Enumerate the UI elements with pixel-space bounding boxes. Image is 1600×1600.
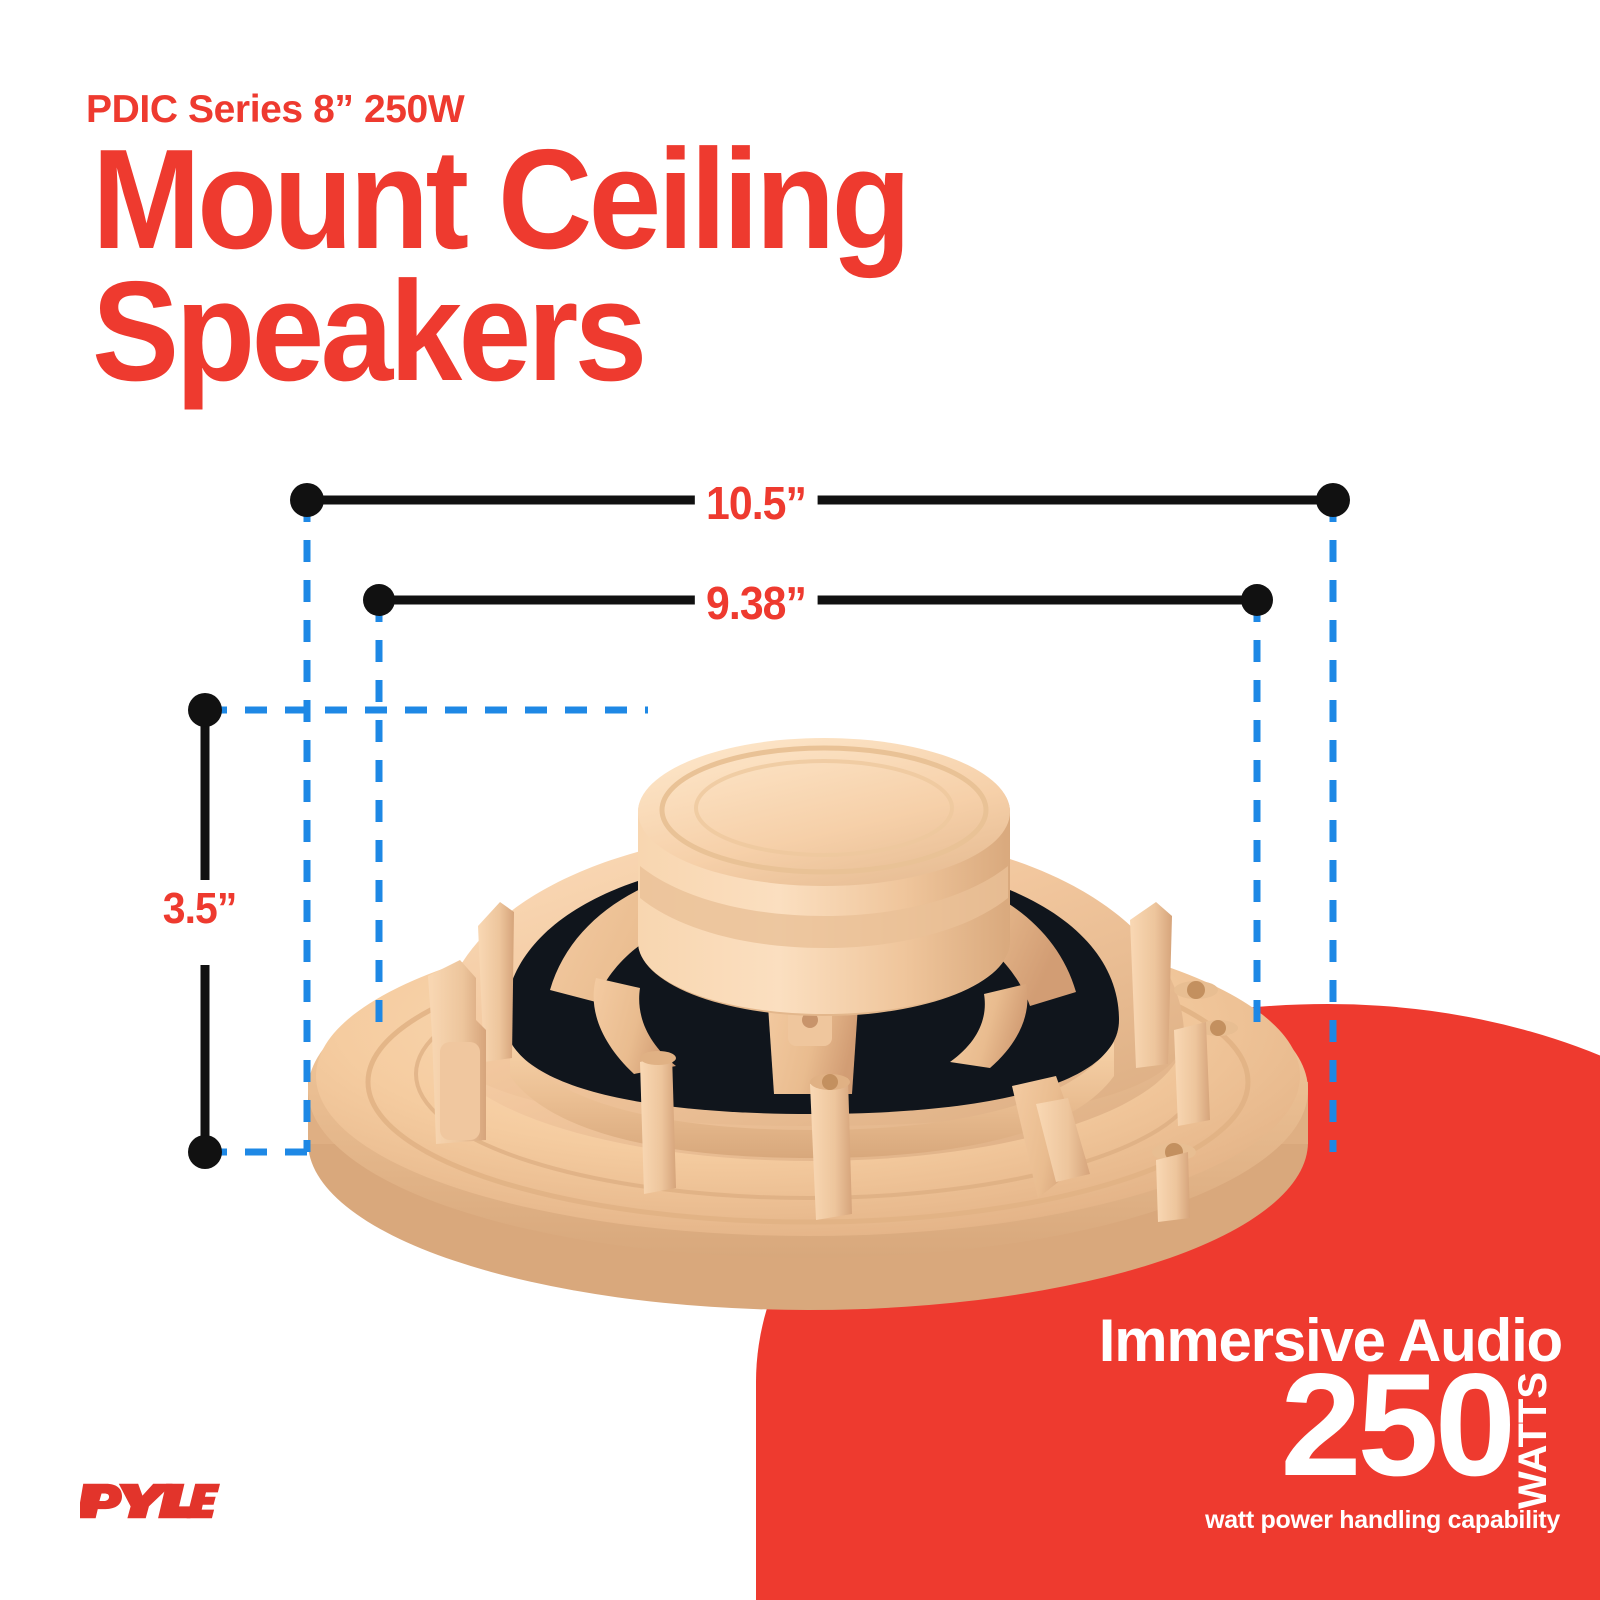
badge-watts-unit: WATTS [1511,1372,1556,1509]
pyle-logo [80,1478,220,1524]
product-image-ceiling-speaker [300,690,1350,1310]
dimension-label-width-outer: 10.5” [695,474,817,532]
page-title: Mount Ceiling Speakers [92,134,908,398]
infographic-canvas: PDIC Series 8” 250W Mount Ceiling Speake… [0,0,1600,1600]
badge-caption: watt power handling capability [1205,1506,1560,1535]
dimension-label-height: 3.5” [152,882,248,936]
page-title-line-2: Speakers [92,266,908,398]
badge-watts-number: 250 [1280,1352,1512,1498]
page-title-line-1: Mount Ceiling [92,134,908,266]
dimension-label-width-inner: 9.38” [695,574,817,632]
